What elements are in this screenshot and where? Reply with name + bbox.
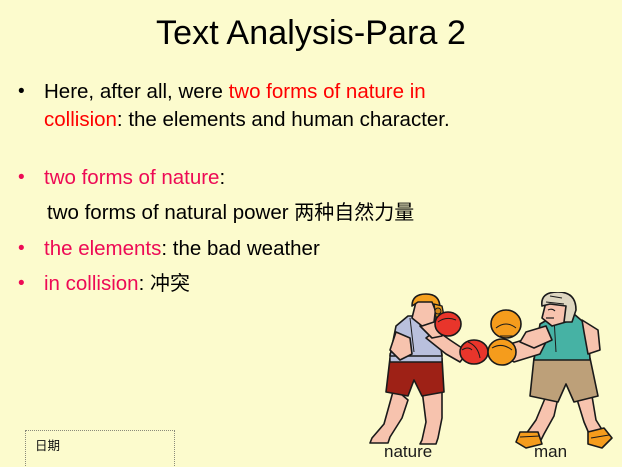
figure-caption-nature: nature <box>384 441 432 462</box>
vocab-gloss-2: : the bad weather <box>161 237 319 260</box>
paragraph-text-black-1: Here, after all, were <box>44 80 229 103</box>
bullet-item-paragraph-text: Here, after all, were two forms of natur… <box>44 78 608 134</box>
date-placeholder-label: 日期 <box>35 438 60 453</box>
left-boxer-nature <box>370 294 488 444</box>
bullet-item-the-elements[interactable]: • the elements: the bad weather <box>18 235 608 262</box>
paragraph-text-red-2: collision <box>44 108 117 131</box>
right-boxer-man <box>488 292 612 448</box>
slide-body: • Here, after all, were two forms of nat… <box>18 78 608 305</box>
vocab-sub-line-english: two forms of natural power <box>47 201 294 224</box>
figure-caption-man: man <box>534 441 567 462</box>
slide-canvas: Text Analysis-Para 2 • Here, after all, … <box>0 0 622 467</box>
vocab-sub-line-natural-power: two forms of natural power 两种自然力量 <box>18 199 608 226</box>
paragraph-text-black-2: : the elements and human character. <box>117 108 450 131</box>
bullet-item-paragraph[interactable]: • Here, after all, were two forms of nat… <box>18 78 608 134</box>
bullet-item-two-forms-of-nature[interactable]: • two forms of nature: <box>18 164 608 191</box>
vocab-gloss-3-chinese: 冲突 <box>150 271 190 295</box>
vocab-term-3: in collision <box>44 272 139 295</box>
date-placeholder[interactable]: 日期 <box>25 430 175 467</box>
bullet-group-vocabulary: • two forms of nature: two forms of natu… <box>18 164 608 297</box>
bullet-marker-icon: • <box>18 270 44 297</box>
vocab-term-1: two forms of nature <box>44 166 219 189</box>
vocab-term-2: the elements <box>44 237 161 260</box>
paragraph-text-red-1: two forms of nature in <box>229 80 426 103</box>
vocab-gloss-3: : <box>139 272 150 295</box>
bullet-item-two-forms-of-nature-text: two forms of nature: <box>44 164 608 191</box>
bullet-group-paragraph: • Here, after all, were two forms of nat… <box>18 78 608 134</box>
vocab-gloss-1: : <box>219 166 225 189</box>
bullet-marker-icon: • <box>18 78 44 105</box>
page-title: Text Analysis-Para 2 <box>0 11 622 55</box>
bullet-marker-icon: • <box>18 164 44 191</box>
vocab-sub-line-chinese: 两种自然力量 <box>294 200 414 224</box>
bullet-marker-icon: • <box>18 235 44 262</box>
bullet-item-the-elements-text: the elements: the bad weather <box>44 235 608 262</box>
